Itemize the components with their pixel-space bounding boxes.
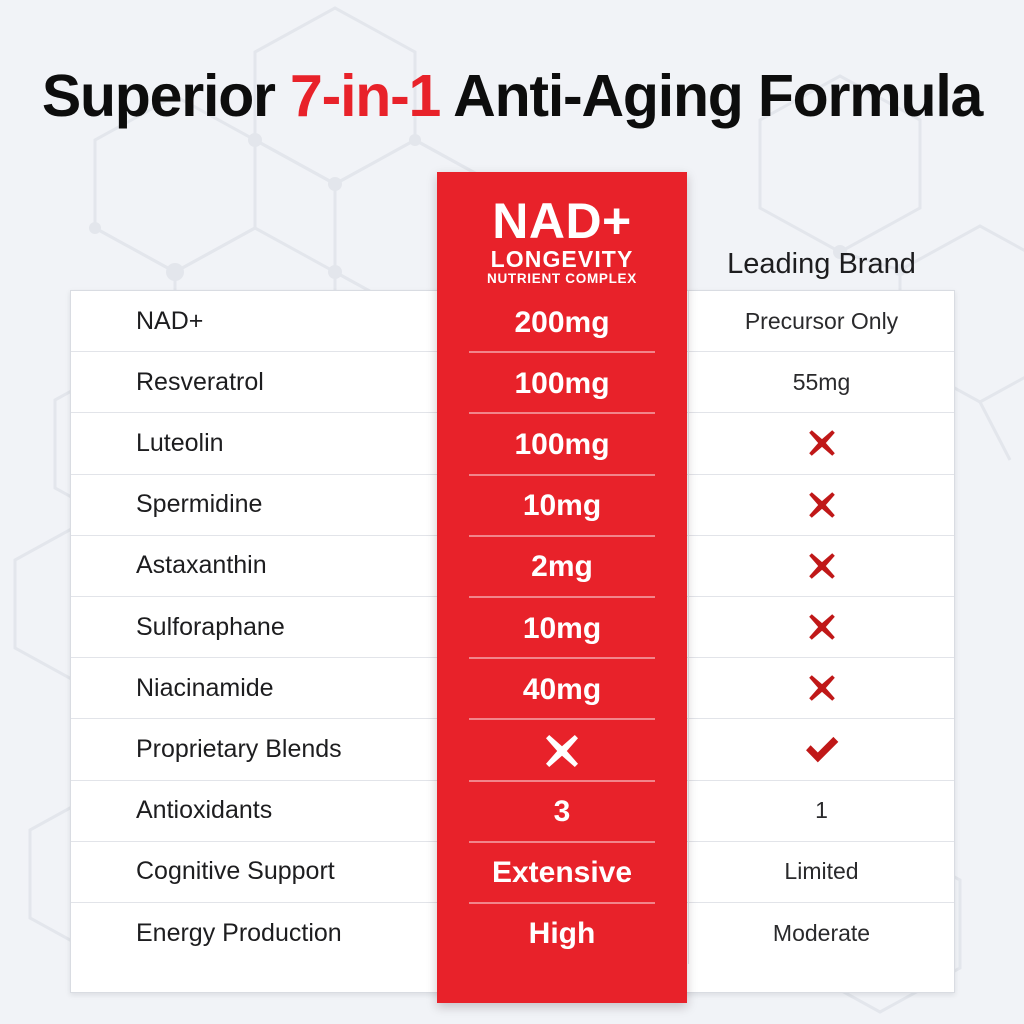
product-value: 10mg <box>437 598 687 659</box>
title-part2: Anti-Aging Formula <box>440 63 982 129</box>
feature-label: Energy Production <box>71 903 438 964</box>
leading-brand-value: Limited <box>689 842 954 902</box>
product-brand-logo: NAD+ LONGEVITY NUTRIENT COMPLEX <box>437 172 687 290</box>
product-value: 100mg <box>437 353 687 414</box>
feature-label: Luteolin <box>71 413 438 473</box>
feature-label: Antioxidants <box>71 781 438 841</box>
page-title: Superior 7-in-1 Anti-Aging Formula <box>0 62 1024 130</box>
product-value: 40mg <box>437 659 687 720</box>
product-value: 10mg <box>437 476 687 537</box>
leading-brand-value: 55mg <box>689 352 954 412</box>
leading-brand-value: 1 <box>689 781 954 841</box>
product-highlight-column: NAD+ LONGEVITY NUTRIENT COMPLEX 200mg100… <box>437 172 687 1003</box>
product-value: 200mg <box>437 292 687 353</box>
feature-label: NAD+ <box>71 291 438 351</box>
leading-brand-value <box>689 475 954 535</box>
product-value: 2mg <box>437 537 687 598</box>
feature-label: Astaxanthin <box>71 536 438 596</box>
product-value-list: 200mg100mg100mg10mg2mg10mg40mg3Extensive… <box>437 290 687 1003</box>
cross-icon <box>542 731 582 771</box>
feature-label: Resveratrol <box>71 352 438 412</box>
feature-label: Proprietary Blends <box>71 719 438 779</box>
feature-label: Cognitive Support <box>71 842 438 902</box>
title-accent: 7-in-1 <box>290 63 440 129</box>
brand-subtitle-1: LONGEVITY <box>437 247 687 271</box>
product-value: High <box>437 904 687 965</box>
check-icon <box>803 735 841 765</box>
brand-subtitle-2: NUTRIENT COMPLEX <box>437 271 687 287</box>
leading-brand-value: Precursor Only <box>689 291 954 351</box>
product-value: Extensive <box>437 843 687 904</box>
feature-label: Niacinamide <box>71 658 438 718</box>
cross-icon <box>806 427 838 459</box>
leading-brand-value <box>689 536 954 596</box>
product-value: 100mg <box>437 414 687 475</box>
product-value <box>437 720 687 781</box>
cross-icon <box>806 672 838 704</box>
product-value: 3 <box>437 782 687 843</box>
leading-brand-value <box>689 597 954 657</box>
leading-brand-value <box>689 719 954 779</box>
cross-icon <box>806 550 838 582</box>
leading-brand-value: Moderate <box>689 903 954 964</box>
leading-brand-value <box>689 658 954 718</box>
leading-brand-column-header: Leading Brand <box>688 248 955 281</box>
brand-name: NAD+ <box>437 195 687 247</box>
feature-label: Spermidine <box>71 475 438 535</box>
leading-brand-value <box>689 413 954 473</box>
cross-icon <box>806 611 838 643</box>
cross-icon <box>806 489 838 521</box>
feature-label: Sulforaphane <box>71 597 438 657</box>
title-part1: Superior <box>42 63 290 129</box>
